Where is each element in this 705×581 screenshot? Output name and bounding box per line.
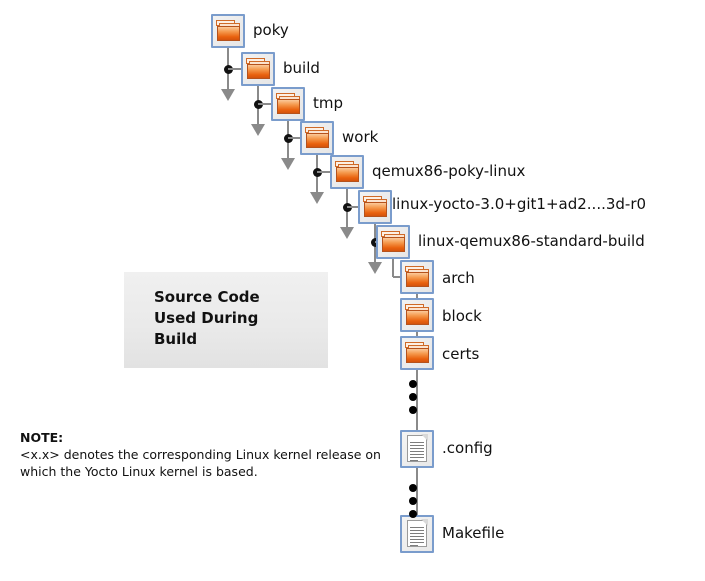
connector-arrowhead: [368, 262, 382, 274]
node-label: qemux86-poky-linux: [372, 163, 525, 180]
folder-body: [217, 26, 240, 41]
connector-horizontal: [288, 137, 300, 139]
connector-horizontal: [258, 103, 271, 105]
folder-glyph: [363, 195, 387, 219]
folder-glyph: [216, 19, 240, 43]
node-label: build: [283, 60, 320, 77]
connector-horizontal: [347, 206, 358, 208]
diagram-canvas: [0, 0, 705, 581]
folder-icon[interactable]: [241, 52, 275, 86]
ellipsis-dot: [409, 510, 417, 518]
folder-icon[interactable]: [400, 298, 434, 332]
connector-horizontal: [228, 68, 241, 70]
file-glyph: [407, 520, 427, 547]
connector-horizontal: [317, 171, 330, 173]
connector-stack-vertical: [416, 468, 418, 515]
file-folded-corner: [421, 519, 428, 526]
ellipsis-dot: [409, 484, 417, 492]
folder-glyph: [381, 230, 405, 254]
folder-body: [306, 133, 329, 148]
file-text-line: [410, 545, 418, 546]
node-label: .config: [442, 440, 493, 457]
folder-body: [406, 310, 429, 325]
note-block: NOTE: <x.x> denotes the corresponding Li…: [20, 430, 390, 480]
folder-icon[interactable]: [358, 190, 392, 224]
file-text-line: [410, 530, 424, 531]
folder-glyph: [246, 57, 270, 81]
ellipsis-dot: [409, 393, 417, 401]
folder-glyph: [276, 92, 300, 116]
connector-arrowhead: [310, 192, 324, 204]
file-text-line: [410, 533, 424, 534]
folder-icon[interactable]: [271, 87, 305, 121]
file-text-line: [410, 527, 424, 528]
file-icon[interactable]: [400, 515, 434, 553]
callout-text: Source Code Used During Build: [154, 287, 260, 350]
connector-stack-vertical: [416, 370, 418, 430]
node-label: Makefile: [442, 525, 504, 542]
folder-icon[interactable]: [400, 260, 434, 294]
folder-glyph: [405, 265, 429, 289]
node-label: poky: [253, 22, 289, 39]
folder-icon[interactable]: [330, 155, 364, 189]
file-text-line: [410, 542, 424, 543]
node-label: arch: [442, 270, 475, 287]
file-text-line: [410, 445, 424, 446]
folder-body: [277, 99, 300, 114]
folder-icon[interactable]: [400, 336, 434, 370]
ellipsis-dot: [409, 380, 417, 388]
node-label: linux-yocto-3.0+git1+ad2....3d-r0: [392, 196, 646, 213]
file-text-line: [410, 460, 418, 461]
folder-body: [336, 167, 359, 182]
folder-glyph: [305, 126, 329, 150]
node-label: linux-qemux86-standard-build: [418, 233, 645, 250]
callout-box: Source Code Used During Build: [124, 272, 328, 368]
folder-icon[interactable]: [376, 225, 410, 259]
folder-body: [406, 348, 429, 363]
folder-glyph: [405, 303, 429, 327]
node-label: tmp: [313, 95, 343, 112]
file-text-line: [410, 539, 424, 540]
file-icon[interactable]: [400, 430, 434, 468]
file-text-line: [410, 454, 424, 455]
connector-arrowhead: [251, 124, 265, 136]
connector-arrowhead: [221, 89, 235, 101]
connector-elbow-vertical: [392, 259, 394, 277]
folder-glyph: [405, 341, 429, 365]
file-text-line: [410, 536, 424, 537]
folder-icon[interactable]: [211, 14, 245, 48]
file-text-line: [410, 442, 424, 443]
node-label: work: [342, 129, 378, 146]
file-text-line: [410, 448, 424, 449]
file-folded-corner: [421, 434, 428, 441]
folder-body: [406, 272, 429, 287]
folder-body: [382, 237, 405, 252]
ellipsis-dot: [409, 406, 417, 414]
file-text-line: [410, 457, 424, 458]
connector-arrowhead: [340, 227, 354, 239]
node-label: certs: [442, 346, 479, 363]
file-glyph: [407, 435, 427, 462]
note-body: <x.x> denotes the corresponding Linux ke…: [20, 446, 390, 480]
connector-arrowhead: [281, 158, 295, 170]
folder-icon[interactable]: [300, 121, 334, 155]
file-text-line: [410, 451, 424, 452]
folder-glyph: [335, 160, 359, 184]
node-label: block: [442, 308, 482, 325]
folder-body: [247, 64, 270, 79]
ellipsis-dot: [409, 497, 417, 505]
folder-body: [364, 202, 387, 217]
note-title: NOTE:: [20, 430, 390, 446]
